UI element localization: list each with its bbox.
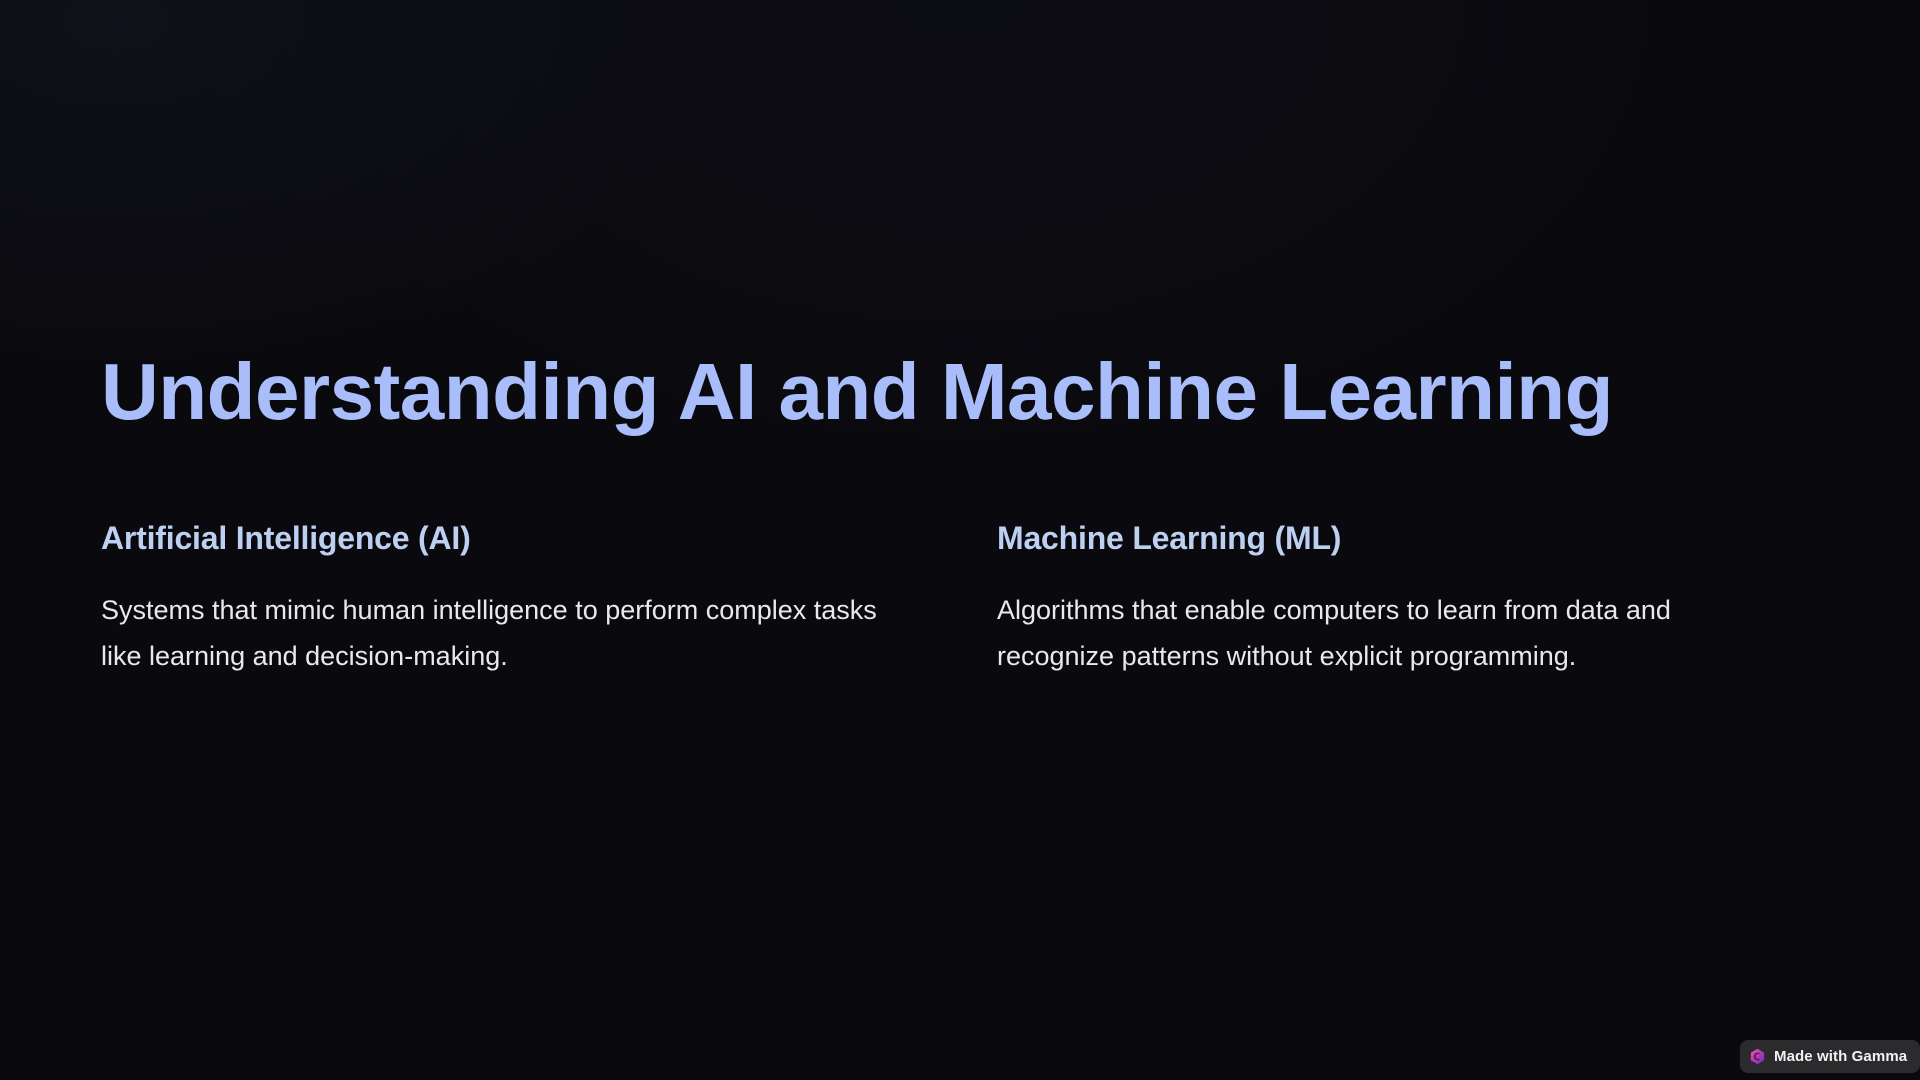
column-heading-ml: Machine Learning (ML)	[997, 520, 1809, 557]
column-body-ai: Systems that mimic human intelligence to…	[101, 587, 891, 679]
gamma-logo-icon	[1749, 1048, 1766, 1065]
content-columns: Artificial Intelligence (AI) Systems tha…	[101, 520, 1839, 679]
page-title: Understanding AI and Machine Learning	[101, 352, 1821, 432]
column-artificial-intelligence: Artificial Intelligence (AI) Systems tha…	[101, 520, 913, 679]
made-with-gamma-badge[interactable]: Made with Gamma	[1740, 1040, 1920, 1073]
made-with-gamma-label: Made with Gamma	[1774, 1049, 1907, 1064]
slide-canvas: Understanding AI and Machine Learning Ar…	[0, 0, 1920, 1080]
column-heading-ai: Artificial Intelligence (AI)	[101, 520, 913, 557]
column-body-ml: Algorithms that enable computers to lear…	[997, 587, 1787, 679]
column-machine-learning: Machine Learning (ML) Algorithms that en…	[997, 520, 1809, 679]
